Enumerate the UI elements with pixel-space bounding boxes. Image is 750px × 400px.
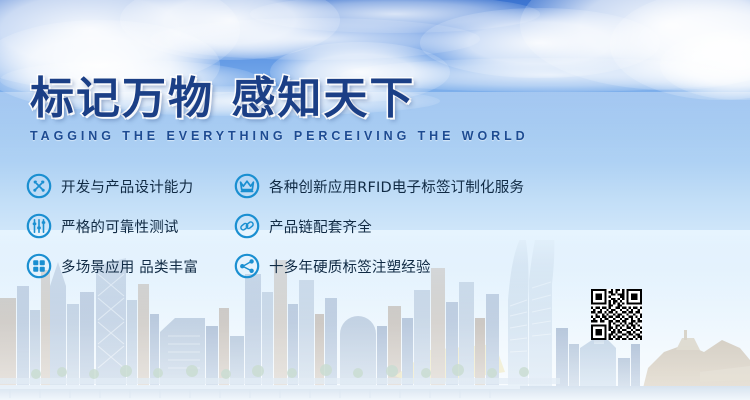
cloud-shape [610,0,750,100]
feature-item-development: 开发与产品设计能力 [26,168,256,204]
feature-label: 严格的可靠性测试 [61,216,179,237]
feature-item-product-chain: 产品链配套齐全 [234,208,574,244]
feature-item-molding-experience: 十多年硬质标签注塑经验 [234,248,574,284]
tools-icon [26,173,52,199]
cloud-shape [660,30,750,100]
qr-code[interactable] [591,289,642,340]
qr-code-image [591,289,642,340]
feature-list-right: 各种创新应用RFID电子标签订制化服务 产品链配套齐全 [234,168,574,288]
cloud-shape [150,18,480,60]
grid-icon [26,253,52,279]
cloud-shape [120,0,340,60]
feature-label: 多场景应用 品类丰富 [61,256,198,277]
feature-item-multi-scenario: 多场景应用 品类丰富 [26,248,256,284]
cloud-shape [520,0,750,90]
cloud-shape [420,8,660,78]
link-icon [234,213,260,239]
feature-list-left: 开发与产品设计能力 严格的可靠性测试 [26,168,256,288]
page-subtitle: TAGGING THE EVERYTHING PERCEIVING THE WO… [30,128,529,143]
promo-banner: 标记万物 感知天下 TAGGING THE EVERYTHING PERCEIV… [0,0,750,400]
feature-label: 各种创新应用RFID电子标签订制化服务 [269,176,524,197]
feature-label: 开发与产品设计能力 [61,176,193,197]
feature-label: 十多年硬质标签注塑经验 [269,256,431,277]
feature-item-rfid-customization: 各种创新应用RFID电子标签订制化服务 [234,168,574,204]
headline-block: 标记万物 感知天下 TAGGING THE EVERYTHING PERCEIV… [30,74,549,143]
feature-item-reliability-testing: 严格的可靠性测试 [26,208,256,244]
page-title: 标记万物 感知天下 [30,74,549,124]
crown-icon [234,173,260,199]
feature-label: 产品链配套齐全 [269,216,372,237]
cloud-shape [250,0,540,33]
sliders-icon [26,213,52,239]
share-icon [234,253,260,279]
